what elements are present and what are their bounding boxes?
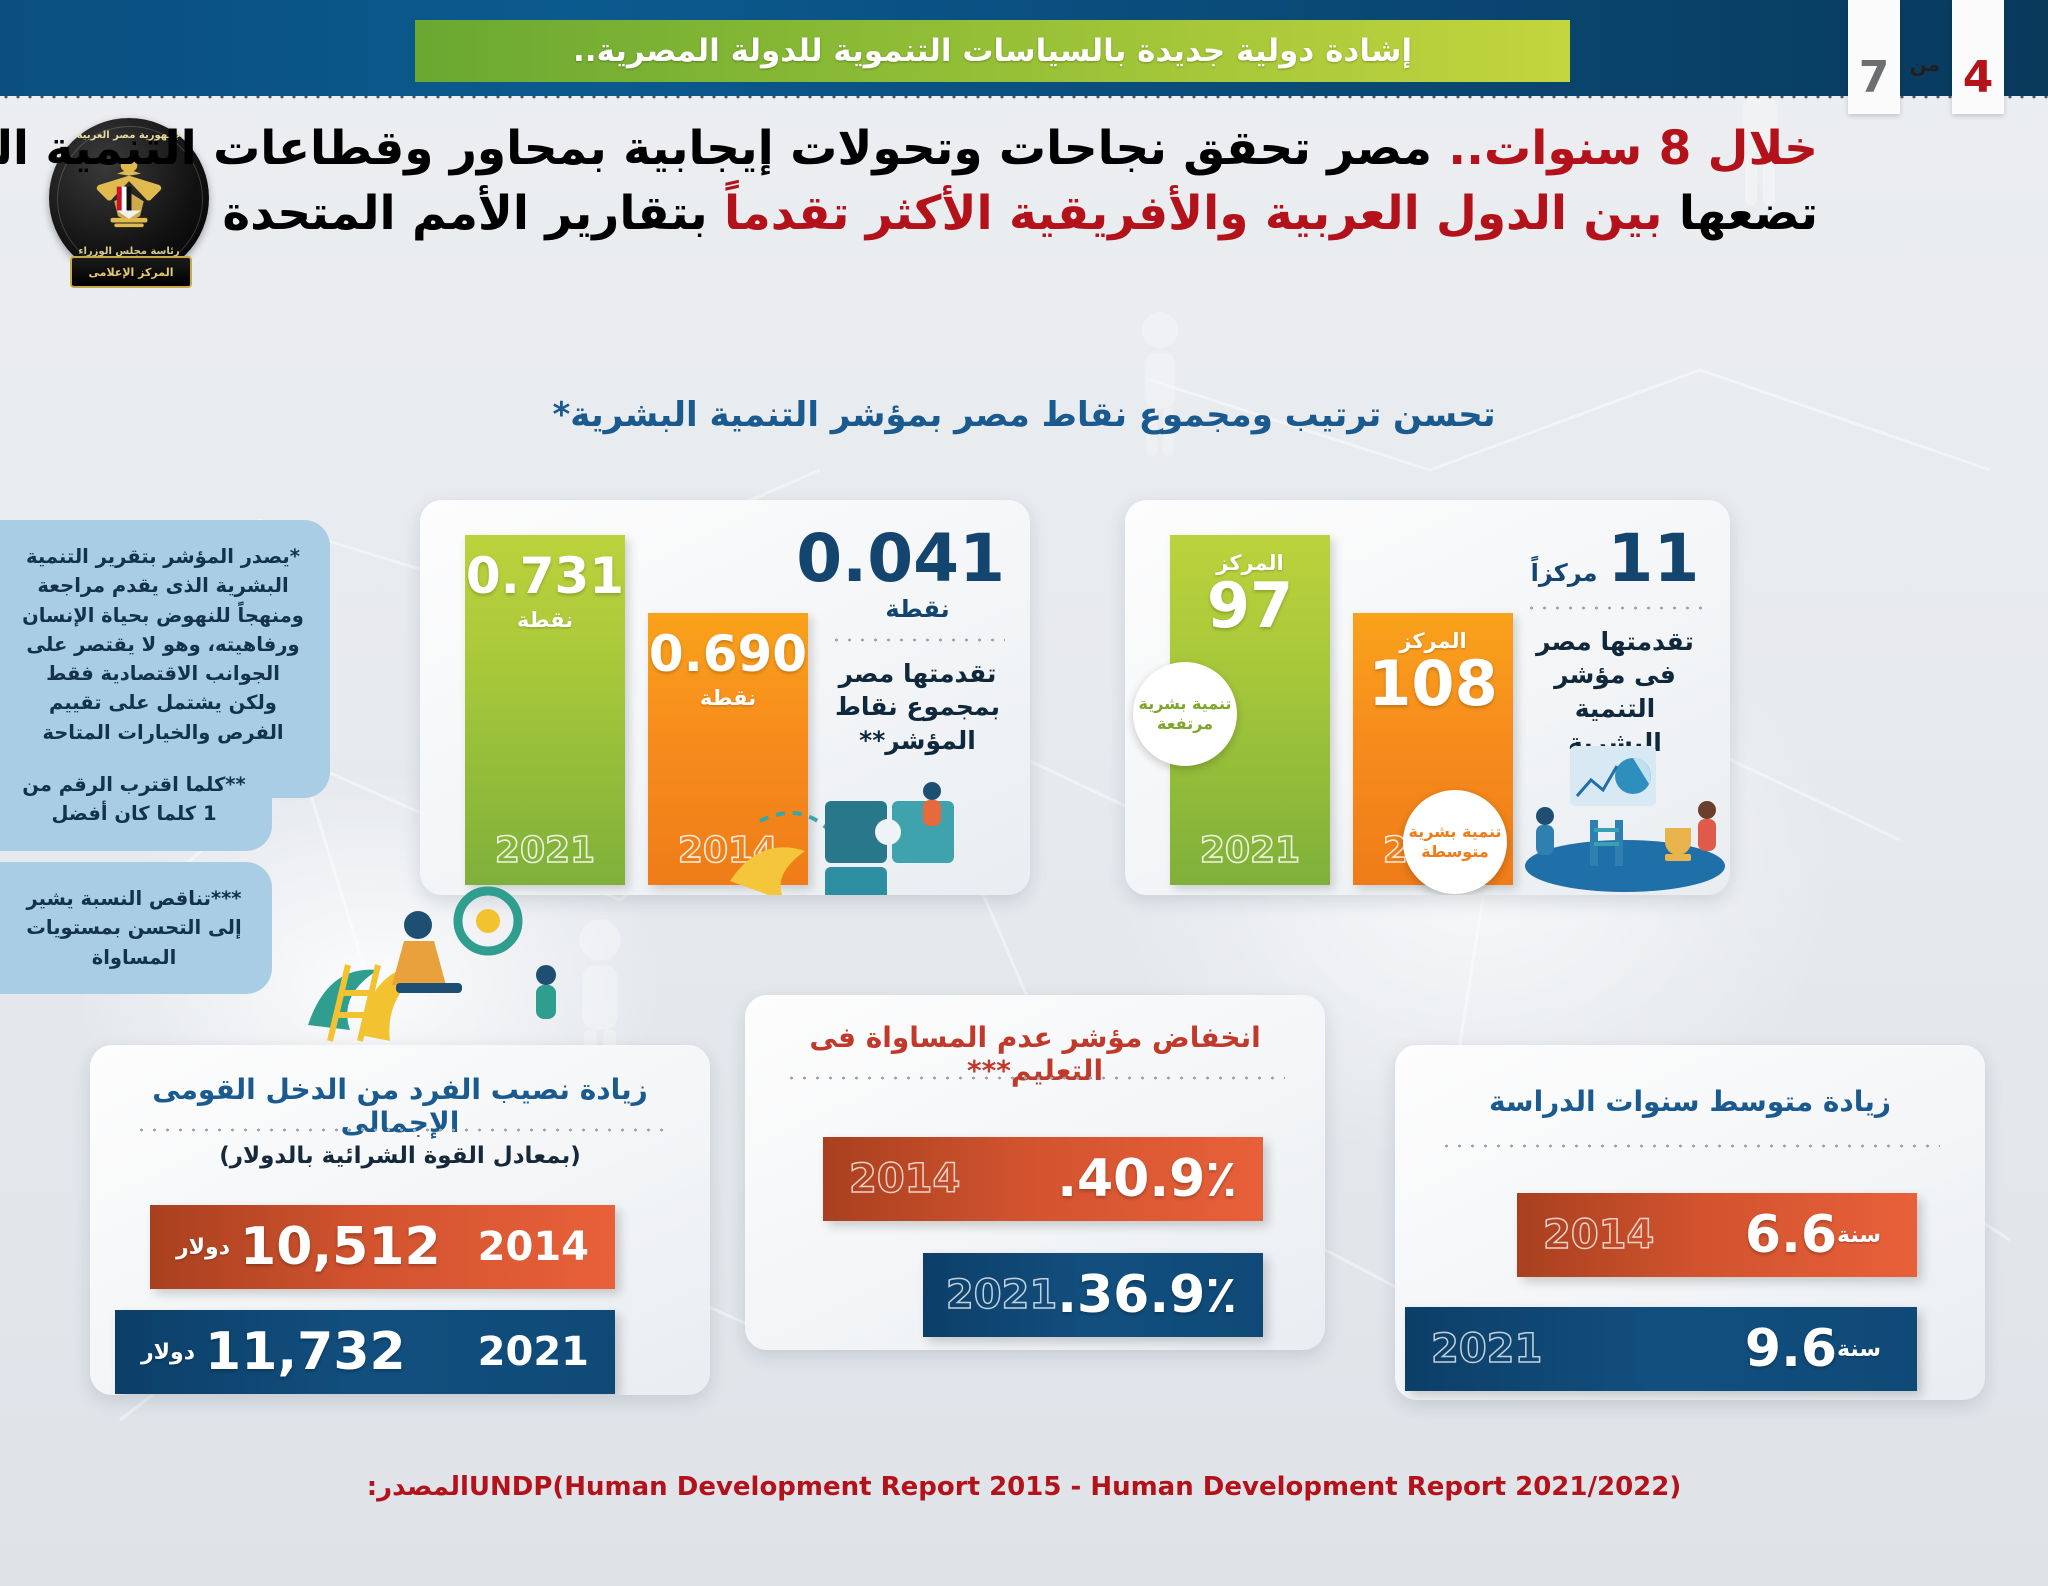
bar-hdi-2021: 0.731 نقطة 2021 (465, 535, 625, 885)
hdi-rank-delta-desc: تقدمتها مصر فى مؤشر التنمية البشرية (1525, 625, 1705, 760)
bar-hdi-2014-value: 0.690 (649, 629, 807, 679)
hdi-rank-divider (1525, 603, 1705, 613)
bar-gni-2021-year: 2021 (478, 1329, 589, 1375)
bar-mys-2021: سنة 9.6 2021 (1405, 1307, 1917, 1391)
bar-hdi-2014: 0.690 نقطة 2014 (648, 613, 808, 885)
source-label: المصدر: (367, 1472, 469, 1502)
mys-divider (1440, 1141, 1940, 1151)
section-subtitle: تحسن ترتيب ومجموع نقاط مصر بمؤشر التنمية… (0, 395, 2048, 435)
title-line1-highlight: خلال 8 سنوات.. (1448, 121, 1818, 176)
page-total-box: 7 (1848, 0, 1900, 114)
gni-divider (135, 1125, 665, 1135)
title-line2-end: بتقارير الأمم المتحدة (222, 186, 724, 241)
hdi-score-highlight: 0.041 نقطة تقدمتها مصر بمجموع نقاط المؤش… (830, 528, 1005, 758)
bar-gni-2014-unit: دولار (176, 1235, 230, 1260)
logo-plate: المركز الإعلامى (70, 256, 192, 288)
hdi-score-delta-desc: تقدمتها مصر بمجموع نقاط المؤشر** (830, 657, 1005, 758)
page-current-box: 4 (1952, 0, 2004, 114)
header-banner-text: إشادة دولية جديدة بالسياسات التنموية للد… (573, 33, 1412, 69)
bar-edu-2021-value: 36.9٪. (1057, 1269, 1237, 1321)
bar-gni-2014-year: 2014 (478, 1224, 589, 1270)
title-block: جمهورية مصر العربية رئاسة مجلس الو (0, 100, 2048, 300)
bar-edu-2014: 40.9٪. 2014 (823, 1137, 1263, 1221)
footnote-3: ***تناقص النسبة يشير إلى التحسن بمستويات… (0, 862, 272, 994)
card-education-inequality: انخفاض مؤشر عدم المساواة فى التعليم*** 4… (745, 995, 1325, 1350)
bar-hdi-2021-unit: نقطة (517, 608, 573, 632)
bar-gni-2014: 2014 10,512 دولار (150, 1205, 615, 1289)
page-total: 7 (1859, 56, 1890, 100)
bar-gni-2021-value: 11,732 (205, 1326, 406, 1378)
bar-mys-2021-year: 2021 (1431, 1326, 1542, 1372)
hdi-rank-bars: المركز 97 2021 المركز 108 2014 تنمية بشر… (1125, 500, 1730, 895)
mys-title: زيادة متوسط سنوات الدراسة (1395, 1085, 1985, 1118)
hdi-score-bars: 0.731 نقطة 2021 0.690 نقطة 2014 0.041 نق… (420, 500, 1030, 895)
bar-mys-2014-unit: سنة (1837, 1223, 1881, 1248)
section-subtitle-text: تحسن ترتيب ومجموع نقاط مصر بمؤشر التنمية… (552, 395, 1495, 435)
page-title: خلال 8 سنوات.. مصر تحقق نجاحات وتحولات إ… (240, 122, 1818, 241)
footnote-2: **كلما اقترب الرقم من 1 كلما كان أفضل (0, 748, 272, 851)
hdi-rank-delta-value: 11 (1608, 528, 1700, 591)
hdi-rank-delta-unit: مركزاً (1531, 559, 1598, 587)
gni-subtitle: (بمعادل القوة الشرائية بالدولار) (90, 1143, 710, 1169)
page-current: 4 (1963, 56, 1994, 100)
bar-hdi-2021-year: 2021 (465, 830, 625, 871)
bar-hdi-2021-value: 0.731 (466, 551, 624, 601)
card-hdi-score: 0.731 نقطة 2021 0.690 نقطة 2014 0.041 نق… (420, 500, 1030, 895)
bar-edu-2021-year: 2021 (946, 1272, 1057, 1318)
bar-mys-2014-value: 6.6 (1745, 1209, 1837, 1261)
title-line2-highlight: بين الدول العربية والأفريقية الأكثر تقدم… (724, 186, 1662, 241)
bar-mys-2021-unit: سنة (1837, 1337, 1881, 1362)
source-line: UNDP(Human Development Report 2015 - Hum… (0, 1472, 2048, 1502)
bar-hdi-2014-unit: نقطة (700, 686, 756, 710)
bar-gni-2021-unit: دولار (141, 1340, 195, 1365)
edu-divider (785, 1073, 1285, 1083)
bar-mys-2014-year: 2014 (1543, 1212, 1654, 1258)
bar-gni-2021: 2021 11,732 دولار (115, 1310, 615, 1394)
bar-rank-2021-year: 2021 (1170, 830, 1330, 871)
card-gni-per-capita: زيادة نصيب الفرد من الدخل القومى الإجمال… (90, 1045, 710, 1395)
page-separator-label: من (1910, 52, 1940, 76)
card-mean-years-schooling: زيادة متوسط سنوات الدراسة سنة 6.6 2014 س… (1395, 1045, 1985, 1400)
infographic-root: إشادة دولية جديدة بالسياسات التنموية للد… (0, 0, 2048, 1586)
hdi-rank-highlight: 11 مركزاً تقدمتها مصر فى مؤشر التنمية ال… (1525, 528, 1705, 760)
title-line2-start: تضعها (1662, 186, 1818, 241)
logo-plate-text: المركز الإعلامى (89, 266, 174, 279)
badge-medium-development: تنمية بشرية متوسطة (1403, 790, 1507, 894)
bar-rank-2021-value: 97 (1207, 575, 1293, 637)
bar-mys-2014: سنة 6.6 2014 (1517, 1193, 1917, 1277)
header-banner: إشادة دولية جديدة بالسياسات التنموية للد… (415, 20, 1570, 82)
bar-edu-2014-value: 40.9٪. (1057, 1153, 1237, 1205)
bar-rank-2014-value: 108 (1368, 653, 1497, 715)
bar-mys-2021-value: 9.6 (1745, 1323, 1837, 1375)
title-line1-rest: مصر تحقق نجاحات وتحولات إيجابية بمحاور و… (0, 121, 1448, 176)
hdi-score-delta-value: 0.041 (830, 528, 1005, 591)
bar-edu-2014-year: 2014 (849, 1156, 960, 1202)
bar-edu-2021: 36.9٪. 2021 (923, 1253, 1263, 1337)
bar-gni-2014-value: 10,512 (240, 1221, 441, 1273)
hdi-score-divider (830, 635, 1005, 645)
bar-hdi-2014-year: 2014 (648, 830, 808, 871)
source-text: UNDP(Human Development Report 2015 - Hum… (469, 1472, 1681, 1502)
card-hdi-rank: المركز 97 2021 المركز 108 2014 تنمية بشر… (1125, 500, 1730, 895)
badge-high-development: تنمية بشرية مرتفعة (1133, 662, 1237, 766)
hdi-score-delta-unit: نقطة (830, 595, 1005, 623)
